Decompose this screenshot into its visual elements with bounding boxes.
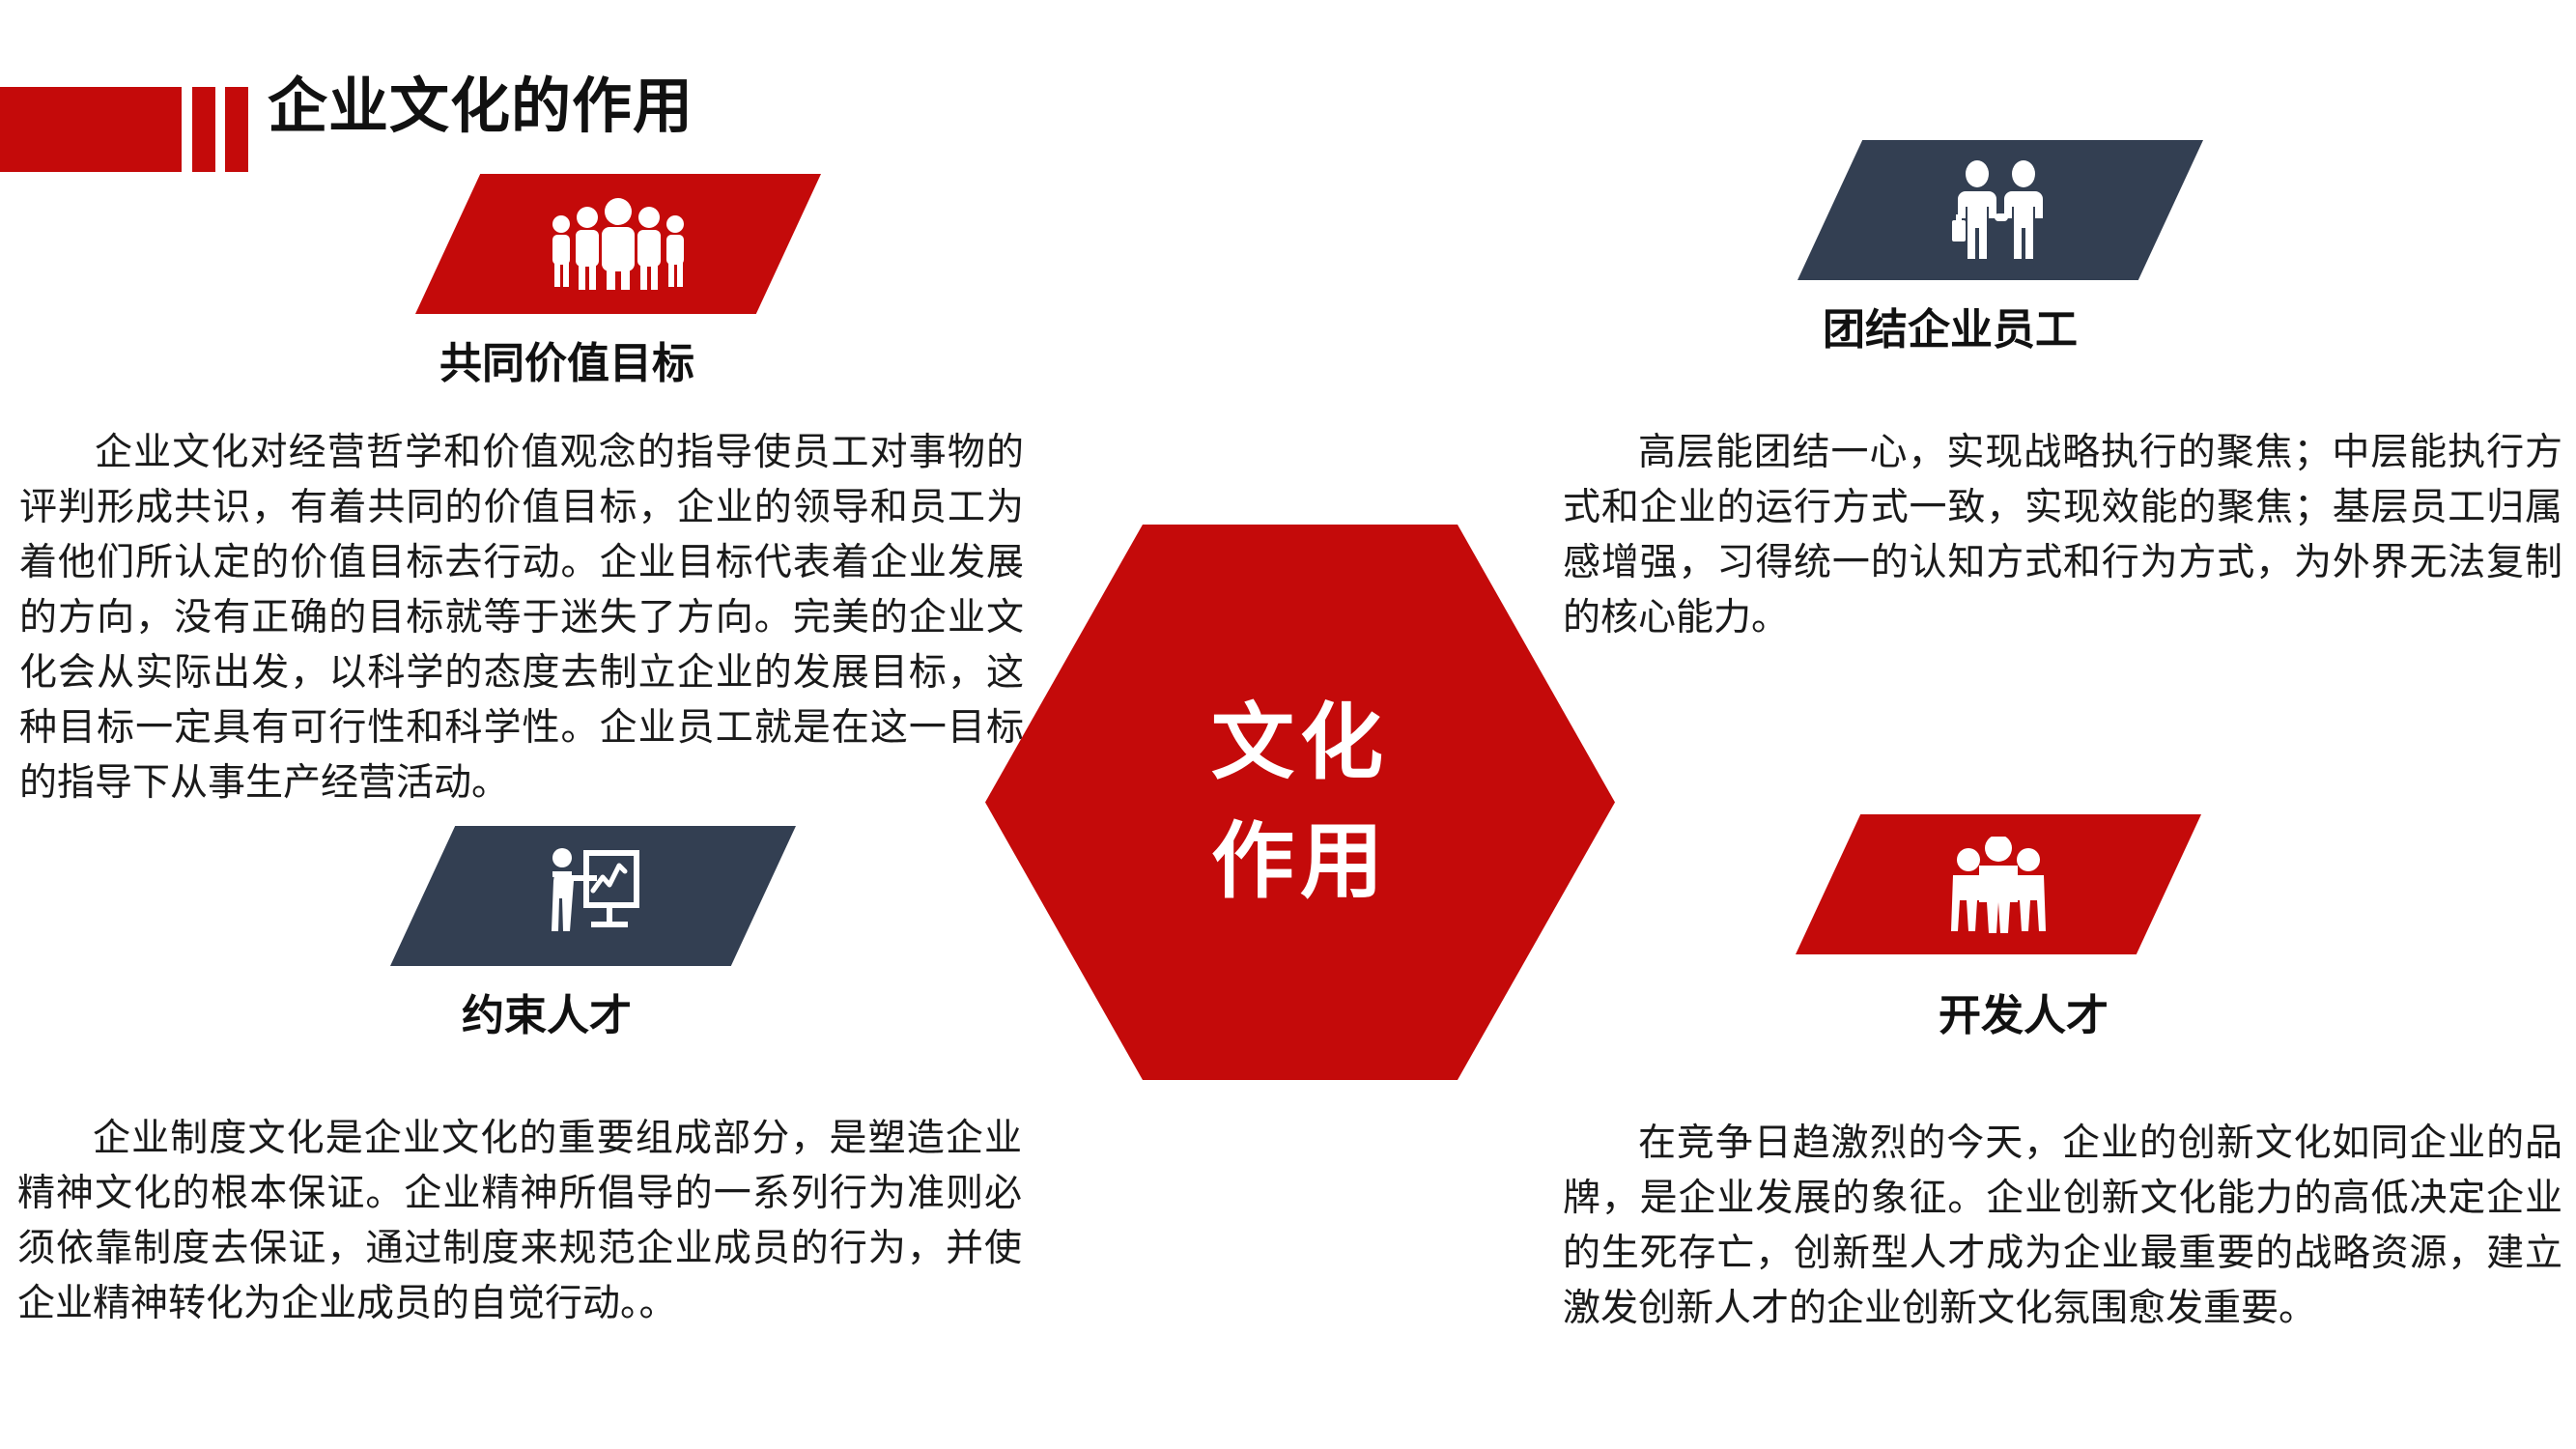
two-people-holding-hands-icon bbox=[1946, 160, 2054, 261]
section-title-common-value-goal: 共同价值目标 bbox=[439, 343, 694, 385]
section-title-unite-employees: 团结企业员工 bbox=[1823, 309, 2078, 352]
title-accent-block bbox=[0, 87, 182, 172]
section-body-constrain-talent: 企业制度文化是企业文化的重要组成部分，是塑造企业精神文化的根本保证。企业精神所倡… bbox=[17, 1111, 1022, 1331]
icon-plate-unite-employees bbox=[1798, 140, 2203, 280]
three-people-team-icon bbox=[1949, 837, 2048, 933]
section-body-unite-employees: 高层能团结一心，实现战略执行的聚焦；中层能执行方式和企业的运行方式一致，实现效能… bbox=[1563, 425, 2562, 645]
slide-canvas: 企业文化的作用 bbox=[0, 0, 2576, 1449]
page-title: 企业文化的作用 bbox=[268, 77, 694, 137]
presenter-whiteboard-icon bbox=[541, 846, 645, 947]
icon-plate-constrain-talent bbox=[390, 826, 796, 966]
icon-plate-develop-talent bbox=[1796, 814, 2201, 954]
title-stripe-1 bbox=[192, 87, 215, 172]
section-body-common-value-goal: 企业文化对经营哲学和价值观念的指导使员工对事物的评判形成共识，有着共同的价值目标… bbox=[19, 425, 1024, 810]
title-stripe-2 bbox=[225, 87, 248, 172]
section-title-develop-talent: 开发人才 bbox=[1939, 995, 2109, 1037]
section-body-develop-talent: 在竞争日趋激烈的今天，企业的创新文化如同企业的品牌，是企业发展的象征。企业创新文… bbox=[1563, 1116, 2562, 1336]
section-title-constrain-talent: 约束人才 bbox=[462, 995, 632, 1037]
center-hexagon-line-1: 文化 bbox=[1211, 684, 1389, 802]
group-of-people-icon bbox=[546, 198, 691, 291]
center-hexagon: 文化 作用 bbox=[985, 525, 1615, 1080]
center-hexagon-line-2: 作用 bbox=[1211, 803, 1389, 921]
icon-plate-common-value-goal bbox=[415, 174, 821, 314]
